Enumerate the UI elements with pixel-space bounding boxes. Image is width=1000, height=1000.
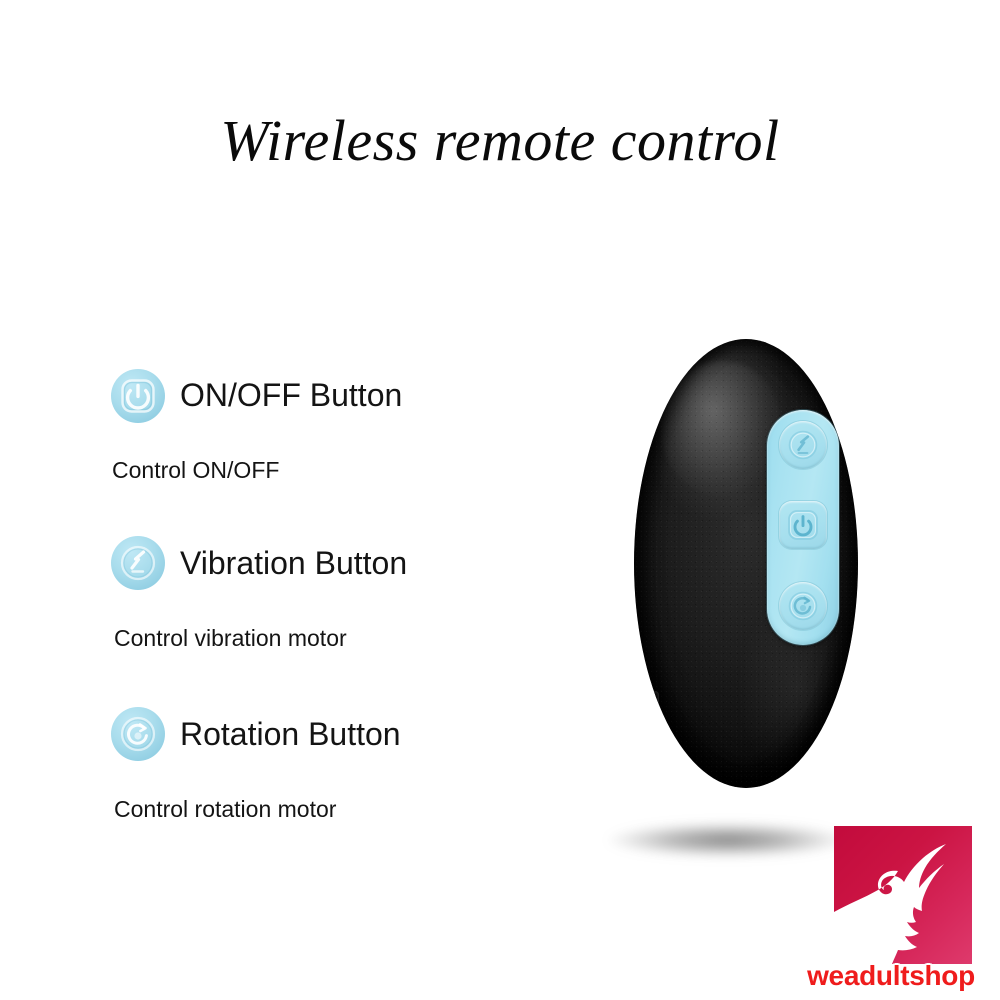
rotation-swirl-icon <box>786 589 820 623</box>
brand-logo <box>834 826 972 964</box>
product-image-wireless-remote <box>560 320 900 880</box>
remote-vibration-button[interactable] <box>779 421 827 469</box>
remote-rotation-button[interactable] <box>779 582 827 630</box>
feature-label: Rotation Button <box>180 718 401 750</box>
remote-power-button[interactable] <box>779 501 827 549</box>
feature-label: Vibration Button <box>180 547 407 579</box>
remote-button-strip <box>767 410 839 645</box>
remote-side-detail <box>650 691 659 707</box>
power-button-icon <box>110 368 166 424</box>
vibration-wave-icon <box>110 535 166 591</box>
woman-face-silhouette-icon <box>834 826 972 964</box>
feature-heading: Vibration Button <box>110 535 530 591</box>
feature-caption: Control vibration motor <box>114 627 530 650</box>
page-title: Wireless remote control <box>0 112 1000 170</box>
power-icon <box>787 509 819 541</box>
feature-item-vibration: Vibration Button Control vibration motor <box>110 535 530 650</box>
rotation-swirl-icon <box>110 706 166 762</box>
feature-heading: ON/OFF Button <box>110 368 530 424</box>
feature-item-rotation: Rotation Button Control rotation motor <box>110 706 530 821</box>
feature-list: ON/OFF Button Control ON/OFF <box>110 368 530 821</box>
feature-caption: Control rotation motor <box>114 798 530 821</box>
brand-wordmark: weadultshop <box>782 962 1000 990</box>
feature-item-on-off: ON/OFF Button Control ON/OFF <box>110 368 530 482</box>
feature-caption: Control ON/OFF <box>112 459 530 482</box>
vibration-wave-icon <box>786 428 820 462</box>
feature-heading: Rotation Button <box>110 706 530 762</box>
product-drop-shadow <box>578 818 878 862</box>
feature-label: ON/OFF Button <box>180 379 402 411</box>
remote-body <box>634 339 858 788</box>
